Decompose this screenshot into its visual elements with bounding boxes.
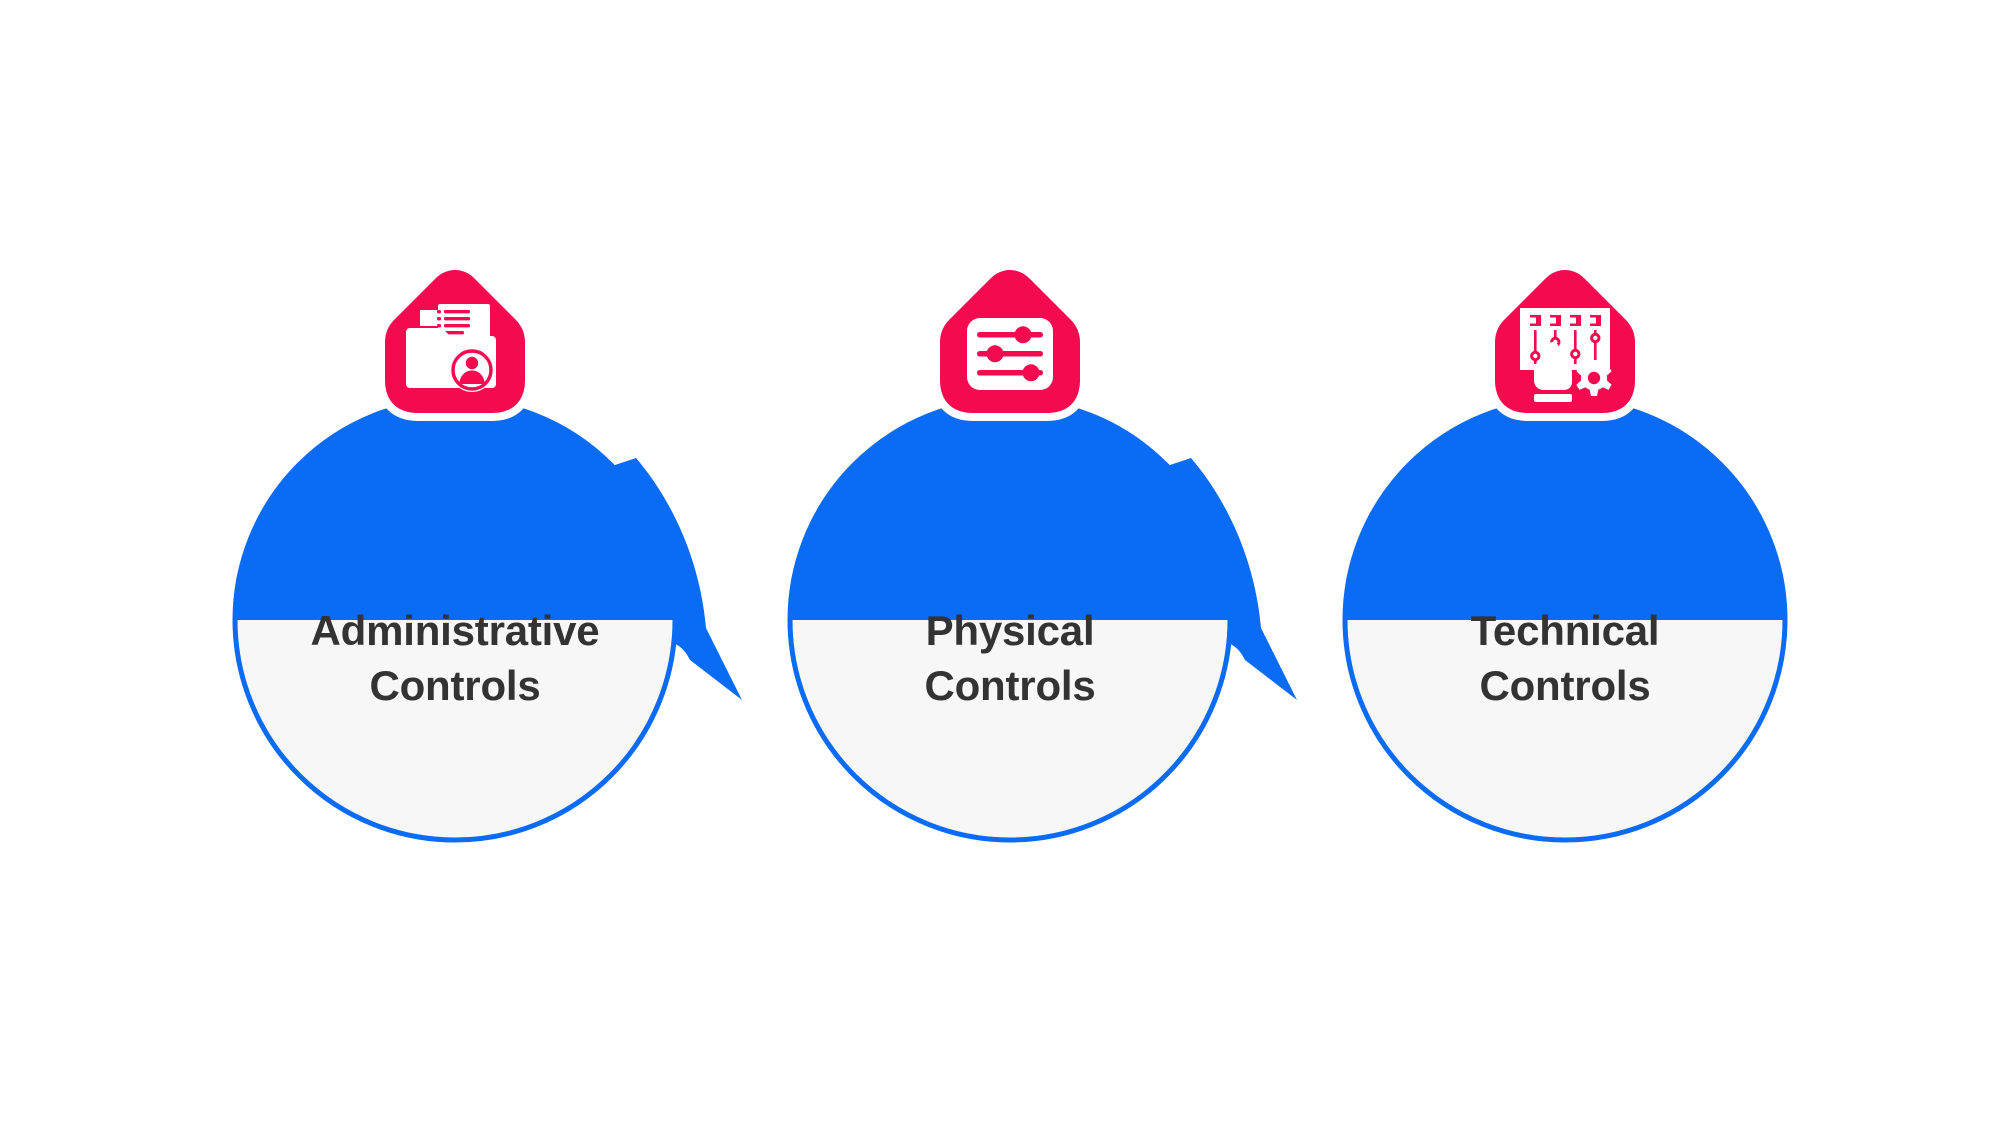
diagram-canvas: Administrative Controls xyxy=(0,0,1999,1121)
icon-badge-administrative[interactable] xyxy=(385,270,525,413)
node-dome-segment xyxy=(237,402,673,620)
node-label-line1: Administrative xyxy=(311,607,600,654)
node-dome-segment xyxy=(1347,402,1783,620)
node-dome-segment xyxy=(792,402,1228,620)
icon-badge-physical[interactable] xyxy=(940,270,1080,413)
node-label-line2: Controls xyxy=(1479,662,1650,709)
node-administrative-controls[interactable]: Administrative Controls xyxy=(235,270,675,840)
node-physical-controls[interactable]: Physical Controls xyxy=(790,270,1230,840)
icon-badge-technical[interactable] xyxy=(1495,270,1635,413)
node-label-line1: Physical xyxy=(926,607,1095,654)
node-technical-controls[interactable]: Technical Controls xyxy=(1345,270,1785,840)
node-label-line2: Controls xyxy=(369,662,540,709)
process-chain-diagram: Administrative Controls xyxy=(0,0,1999,1121)
node-label-line1: Technical xyxy=(1471,607,1660,654)
node-label-line2: Controls xyxy=(924,662,1095,709)
sliders-panel-icon xyxy=(967,318,1053,390)
